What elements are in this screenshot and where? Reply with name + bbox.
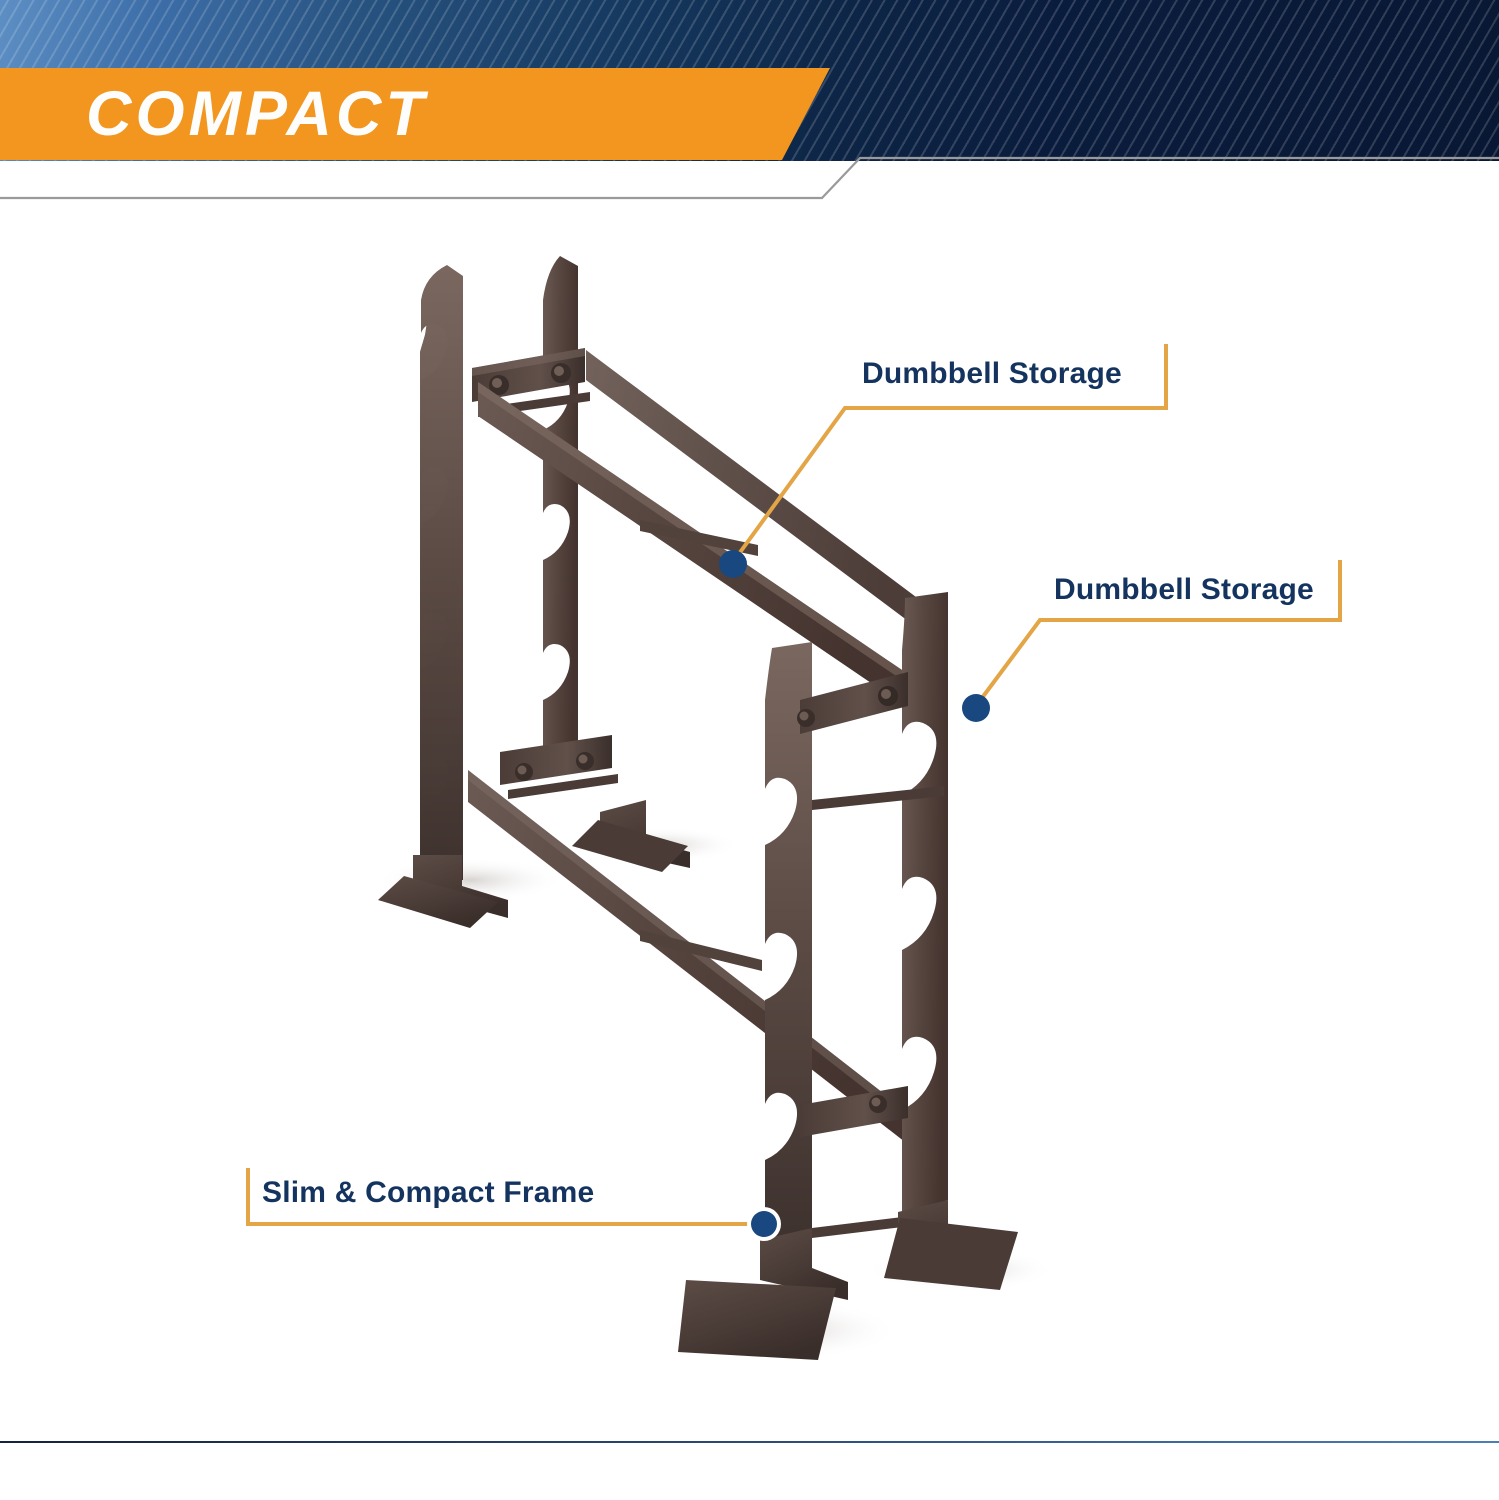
infographic-canvas: COMPACT xyxy=(0,0,1499,1500)
callout-label-dumbbell-storage-top: Dumbbell Storage xyxy=(862,357,1122,391)
callout-label-dumbbell-storage-right: Dumbbell Storage xyxy=(1054,573,1314,607)
product-dumbbell-rack-image xyxy=(0,0,1499,1500)
page-title: COMPACT xyxy=(86,74,428,154)
callout-label-slim-compact-frame: Slim & Compact Frame xyxy=(262,1176,594,1210)
